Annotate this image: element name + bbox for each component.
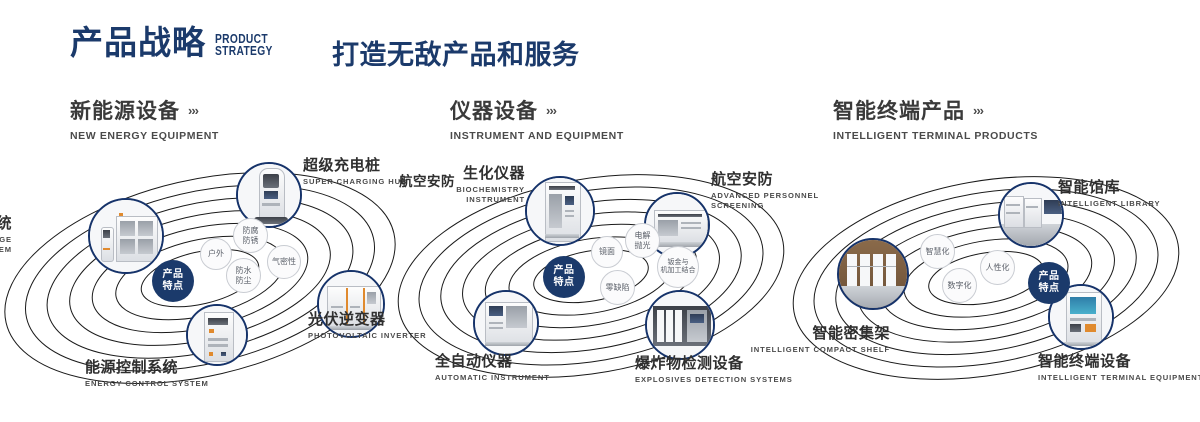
label-en: INTELLIGENT COMPACT SHELF — [730, 345, 890, 355]
feature-bubble: 电解 抛光 — [625, 223, 660, 258]
section-heading-intelligent-terminal: 智能终端产品››› INTELLIGENT TERMINAL PRODUCTS — [833, 95, 1038, 142]
feature-bubble: 户外 — [200, 238, 232, 270]
node-biochemistry-instrument[interactable] — [525, 176, 595, 246]
label-cn: 储能系统 — [0, 212, 12, 233]
diagram-instrument: 生化仪器 BIOCHEMISTRY INSTRUMENT 航空安防 航空安防 A… — [395, 150, 795, 400]
library-shelving-icon — [1000, 184, 1062, 246]
section-heading-en: INSTRUMENT AND EQUIPMENT — [450, 130, 624, 142]
feature-bubble: 气密性 — [267, 245, 301, 279]
explosives-detector-icon — [647, 292, 713, 358]
automatic-instrument-icon — [475, 292, 537, 354]
node-automatic-instrument[interactable] — [473, 290, 539, 356]
diagram-new-energy: 储能系统 ENERGY STORAGE SYSTEM 超级充电桩 SUPER C… — [0, 150, 400, 400]
center-badge-product-features: 产品 特点 — [152, 260, 194, 302]
section-heading-instrument: 仪器设备››› INSTRUMENT AND EQUIPMENT — [450, 95, 624, 142]
label-intelligent-library: 智能馆库 INTELLIGENT LIBRARY — [1058, 176, 1188, 208]
label-en: ENERGY STORAGE SYSTEM — [0, 235, 12, 255]
label-en: EXPLOSIVES DETECTION SYSTEMS — [635, 375, 805, 384]
compact-shelf-icon — [839, 240, 907, 308]
diagram-intelligent-terminal: 智能馆库 INTELLIGENT LIBRARY 智能密集架 INTELLIGE… — [790, 150, 1200, 400]
biochemistry-analyzer-icon — [527, 178, 593, 244]
label-aviation-security-left: 航空安防 — [343, 170, 455, 190]
label-cn: 航空安防 — [343, 170, 455, 190]
label-cn: 智能馆库 — [1058, 176, 1188, 197]
chevron-right-icon: ››› — [188, 103, 198, 118]
feature-bubble: 智慧化 — [920, 234, 955, 269]
center-badge-product-features: 产品 特点 — [543, 256, 585, 298]
feature-bubble: 钣金与 机加工结合 — [657, 246, 699, 288]
label-cn: 全自动仪器 — [435, 350, 575, 371]
label-en: ENERGY CONTROL SYSTEM — [85, 379, 245, 388]
label-cn: 爆炸物检测设备 — [635, 352, 805, 373]
node-intelligent-library[interactable] — [998, 182, 1064, 248]
energy-storage-cabinet-icon — [90, 200, 162, 272]
section-heading-cn: 仪器设备 — [450, 95, 538, 125]
feature-bubble: 数字化 — [942, 268, 977, 303]
section-heading-cn: 新能源设备 — [70, 95, 180, 125]
label-en: INTELLIGENT LIBRARY — [1058, 199, 1188, 208]
label-energy-storage-system: 储能系统 ENERGY STORAGE SYSTEM — [0, 212, 12, 255]
page-title-cn: 产品战略 — [70, 26, 206, 59]
label-automatic-instrument: 全自动仪器 AUTOMATIC INSTRUMENT — [435, 350, 575, 382]
label-en: AUTOMATIC INSTRUMENT — [435, 373, 575, 382]
node-energy-storage-system[interactable] — [88, 198, 164, 274]
feature-bubble: 防腐 防锈 — [233, 218, 268, 253]
section-heading-new-energy: 新能源设备››› NEW ENERGY EQUIPMENT — [70, 95, 219, 142]
label-cn: 能源控制系统 — [85, 356, 245, 377]
feature-bubble: 零缺陷 — [600, 270, 635, 305]
label-intelligent-terminal-equipment: 智能终端设备 INTELLIGENT TERMINAL EQUIPMENT — [1038, 350, 1200, 382]
label-cn: 智能终端设备 — [1038, 350, 1200, 371]
center-badge-product-features: 产品 特点 — [1028, 262, 1070, 304]
page-title-en: PRODUCT STRATEGY — [215, 33, 273, 57]
page-title: 产品战略 PRODUCT STRATEGY — [70, 26, 285, 59]
page-subtitle: 打造无敌产品和服务 — [332, 33, 580, 72]
feature-bubble: 镜面 — [591, 236, 623, 268]
node-intelligent-compact-shelf[interactable] — [837, 238, 909, 310]
feature-bubble: 防水 防尘 — [226, 258, 261, 293]
section-heading-en: NEW ENERGY EQUIPMENT — [70, 130, 219, 142]
chevron-right-icon: ››› — [546, 103, 556, 118]
product-strategy-infographic: 产品战略 PRODUCT STRATEGY 打造无敌产品和服务 新能源设备›››… — [0, 0, 1200, 422]
label-explosives-detection-systems: 爆炸物检测设备 EXPLOSIVES DETECTION SYSTEMS — [635, 352, 805, 384]
label-energy-control-system: 能源控制系统 ENERGY CONTROL SYSTEM — [85, 356, 245, 388]
chevron-right-icon: ››› — [973, 103, 983, 118]
section-heading-en: INTELLIGENT TERMINAL PRODUCTS — [833, 130, 1038, 142]
label-cn: 智能密集架 — [730, 322, 890, 343]
label-en: INTELLIGENT TERMINAL EQUIPMENT — [1038, 373, 1200, 382]
node-explosives-detection-systems[interactable] — [645, 290, 715, 360]
feature-bubble: 人性化 — [980, 250, 1015, 285]
charging-pile-icon — [238, 164, 300, 226]
label-intelligent-compact-shelf: 智能密集架 INTELLIGENT COMPACT SHELF — [730, 322, 890, 355]
section-heading-cn: 智能终端产品 — [833, 95, 965, 125]
